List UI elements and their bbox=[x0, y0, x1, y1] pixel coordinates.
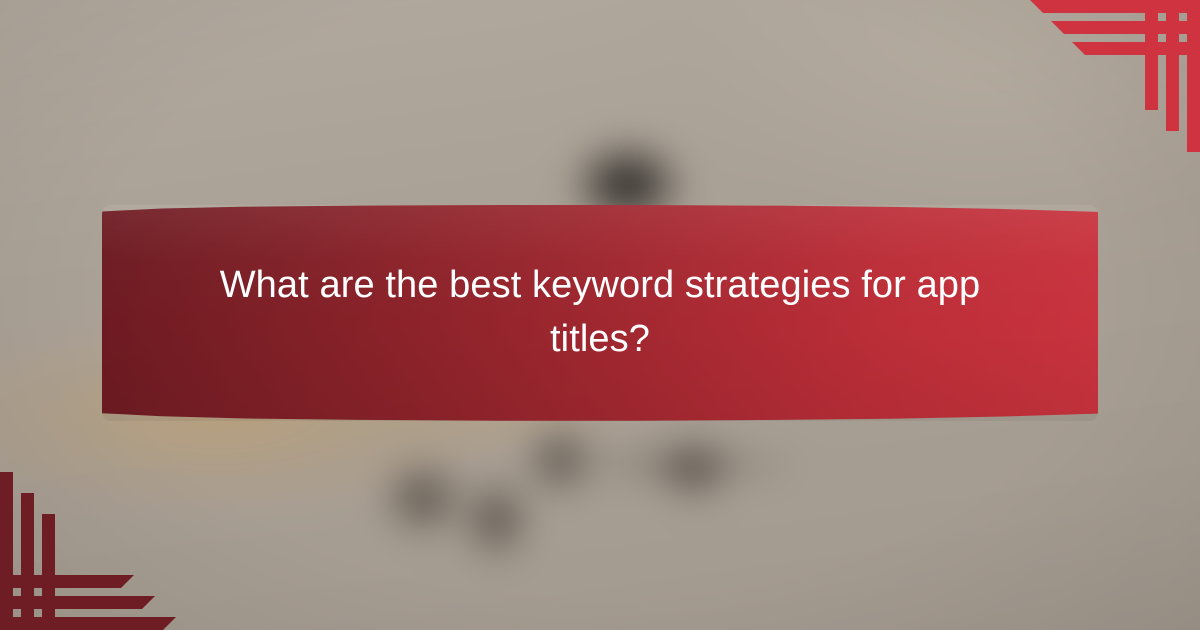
bracket-arm-horizontal bbox=[1072, 42, 1200, 55]
corner-bracket-top-right bbox=[1030, 0, 1200, 152]
bracket-arm-horizontal bbox=[0, 575, 134, 588]
bracket-arm-vertical bbox=[42, 514, 55, 630]
corner-bracket-bottom-left bbox=[0, 472, 176, 630]
bracket-inner bbox=[1030, 0, 1200, 152]
bracket-inner bbox=[0, 472, 176, 630]
bracket-arm-vertical bbox=[1145, 0, 1158, 110]
poster-canvas: What are the best keyword strategies for… bbox=[0, 0, 1200, 630]
headline-banner: What are the best keyword strategies for… bbox=[102, 205, 1098, 421]
headline-text: What are the best keyword strategies for… bbox=[102, 205, 1098, 421]
